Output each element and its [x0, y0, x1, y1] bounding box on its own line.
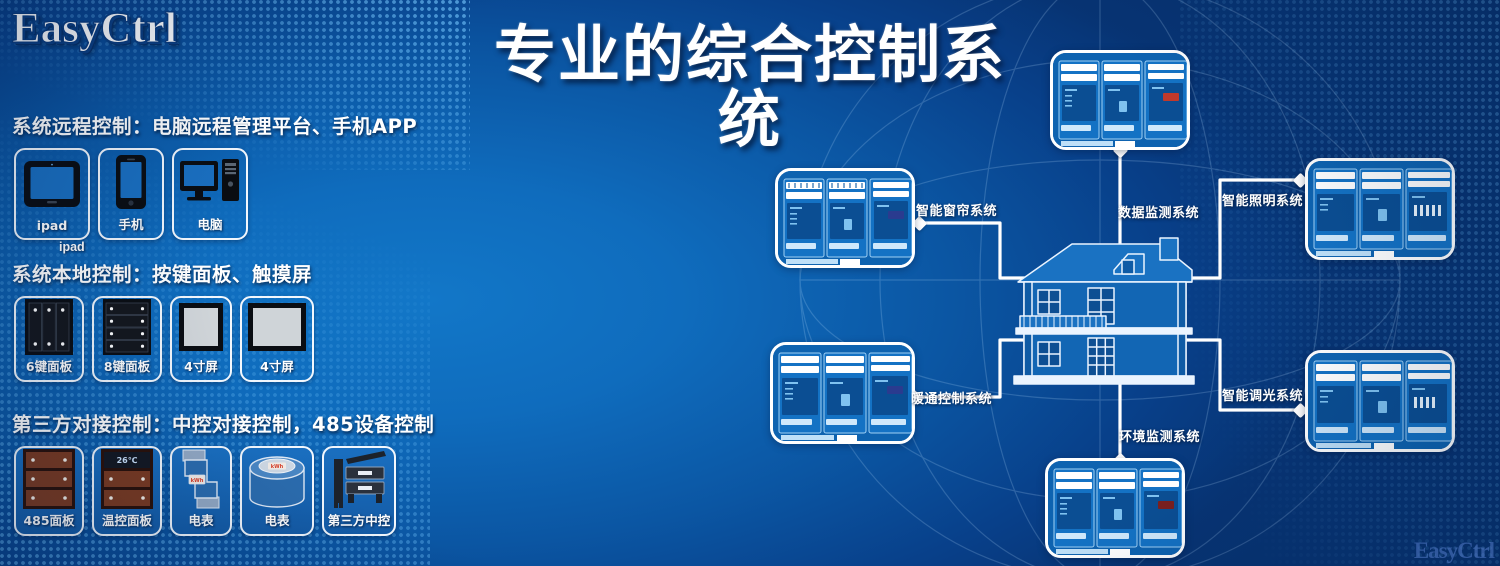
section-third-party-control: 第三方对接控制：中控对接控制，485设备控制	[0, 408, 434, 536]
tablet-icon	[16, 150, 88, 218]
node-box-environment[interactable]	[1045, 458, 1185, 558]
poster-canvas: EasyCtrl 专业的综合控制系统 系统远程控制：电脑远程管理平台、手机APP…	[0, 0, 1500, 566]
device-card-label: 4寸屏	[260, 356, 294, 380]
smartphone-icon	[100, 150, 162, 214]
device-card-label: 第三方中控	[328, 510, 391, 534]
desktop-computer-icon	[174, 150, 246, 214]
section-local-control: 系统本地控制：按键面板、触摸屏	[0, 258, 314, 382]
device-card-disc-meter[interactable]: kWh 电表	[240, 446, 314, 536]
node-box-lighting[interactable]	[1305, 158, 1455, 260]
device-card-label: 485面板	[23, 510, 74, 534]
device-card-label: 8键面板	[104, 356, 150, 380]
node-box-curtain[interactable]	[775, 168, 915, 268]
villa-house-illustration	[1010, 230, 1200, 390]
four-inch-screen-icon	[172, 298, 230, 356]
thermostat-panel-icon: 26℃	[94, 448, 160, 510]
card-row-local-control: 6键面板	[0, 296, 314, 382]
device-card-phone[interactable]: 手机	[98, 148, 164, 240]
rs485-panel-icon	[16, 448, 82, 510]
device-card-label: ipad	[37, 218, 68, 238]
four-inch-screen-wide-icon	[242, 298, 312, 356]
brand-watermark: EasyCtrl	[1414, 538, 1494, 564]
device-card-485-panel[interactable]: 485面板	[14, 446, 84, 536]
eight-key-panel-icon	[94, 298, 160, 356]
device-card-label: 电表	[188, 510, 213, 534]
device-card-4inch-screen-a[interactable]: 4寸屏	[170, 296, 232, 382]
device-card-label: 6键面板	[26, 356, 72, 380]
inline-energy-meter-icon: kWh	[172, 448, 230, 510]
diagram-label-curtain: 智能窗帘系统	[916, 200, 997, 219]
thermostat-display-value: 26℃	[117, 456, 138, 465]
device-card-label: 手机	[118, 214, 143, 238]
controller-module-rack	[1308, 353, 1455, 452]
device-card-4inch-screen-b[interactable]: 4寸屏	[240, 296, 314, 382]
device-card-computer[interactable]: 电脑	[172, 148, 248, 240]
system-topology-diagram: 智能窗帘系统 数据监测系统 智能照明系统 暖通控制系统 环境监测系统 智能调光系…	[700, 40, 1500, 566]
device-card-inline-meter[interactable]: kWh 电表	[170, 446, 232, 536]
controller-module-rack	[1053, 53, 1190, 150]
device-card-8key-panel[interactable]: 8键面板	[92, 296, 162, 382]
controller-module-rack	[778, 171, 915, 268]
six-key-panel-icon	[16, 298, 82, 356]
brand-logo: EasyCtrl	[12, 4, 177, 53]
disc-energy-meter-icon: kWh	[242, 448, 312, 510]
svg-text:kWh: kWh	[191, 478, 204, 484]
card-row-remote-control: ipad 手机	[0, 148, 417, 240]
node-box-data[interactable]	[1050, 50, 1190, 150]
device-card-label: 4寸屏	[184, 356, 218, 380]
controller-module-rack	[773, 345, 915, 444]
device-card-third-party-controller[interactable]: 第三方中控	[322, 446, 396, 536]
controller-module-rack	[1048, 461, 1185, 558]
device-card-label: 温控面板	[102, 510, 152, 534]
rack-controller-icon	[324, 448, 394, 510]
device-card-6key-panel[interactable]: 6键面板	[14, 296, 84, 382]
svg-text:kWh: kWh	[271, 464, 284, 470]
device-card-ipad[interactable]: ipad	[14, 148, 90, 240]
node-box-hvac[interactable]	[770, 342, 915, 444]
controller-module-rack	[1308, 161, 1455, 260]
section-title-local-control: 系统本地控制：按键面板、触摸屏	[0, 258, 314, 287]
diagram-label-environment: 环境监测系统	[1119, 426, 1200, 445]
diagram-label-lighting: 智能照明系统	[1222, 190, 1303, 209]
card-row-third-party-control: 485面板 26℃ 温控面板	[0, 446, 434, 536]
section-remote-control: 系统远程控制：电脑远程管理平台、手机APP ipad	[0, 110, 417, 240]
device-card-thermostat-panel[interactable]: 26℃ 温控面板	[92, 446, 162, 536]
diagram-label-data: 数据监测系统	[1118, 202, 1199, 221]
section-title-remote-control: 系统远程控制：电脑远程管理平台、手机APP	[0, 110, 417, 139]
diagram-label-hvac: 暖通控制系统	[911, 388, 992, 407]
device-card-label: 电表	[264, 510, 289, 534]
stray-ipad-caption: ipad	[59, 240, 85, 254]
diagram-label-dimming: 智能调光系统	[1222, 385, 1303, 404]
node-box-dimming[interactable]	[1305, 350, 1455, 452]
device-card-label: 电脑	[197, 214, 222, 238]
section-title-third-party-control: 第三方对接控制：中控对接控制，485设备控制	[0, 408, 434, 437]
